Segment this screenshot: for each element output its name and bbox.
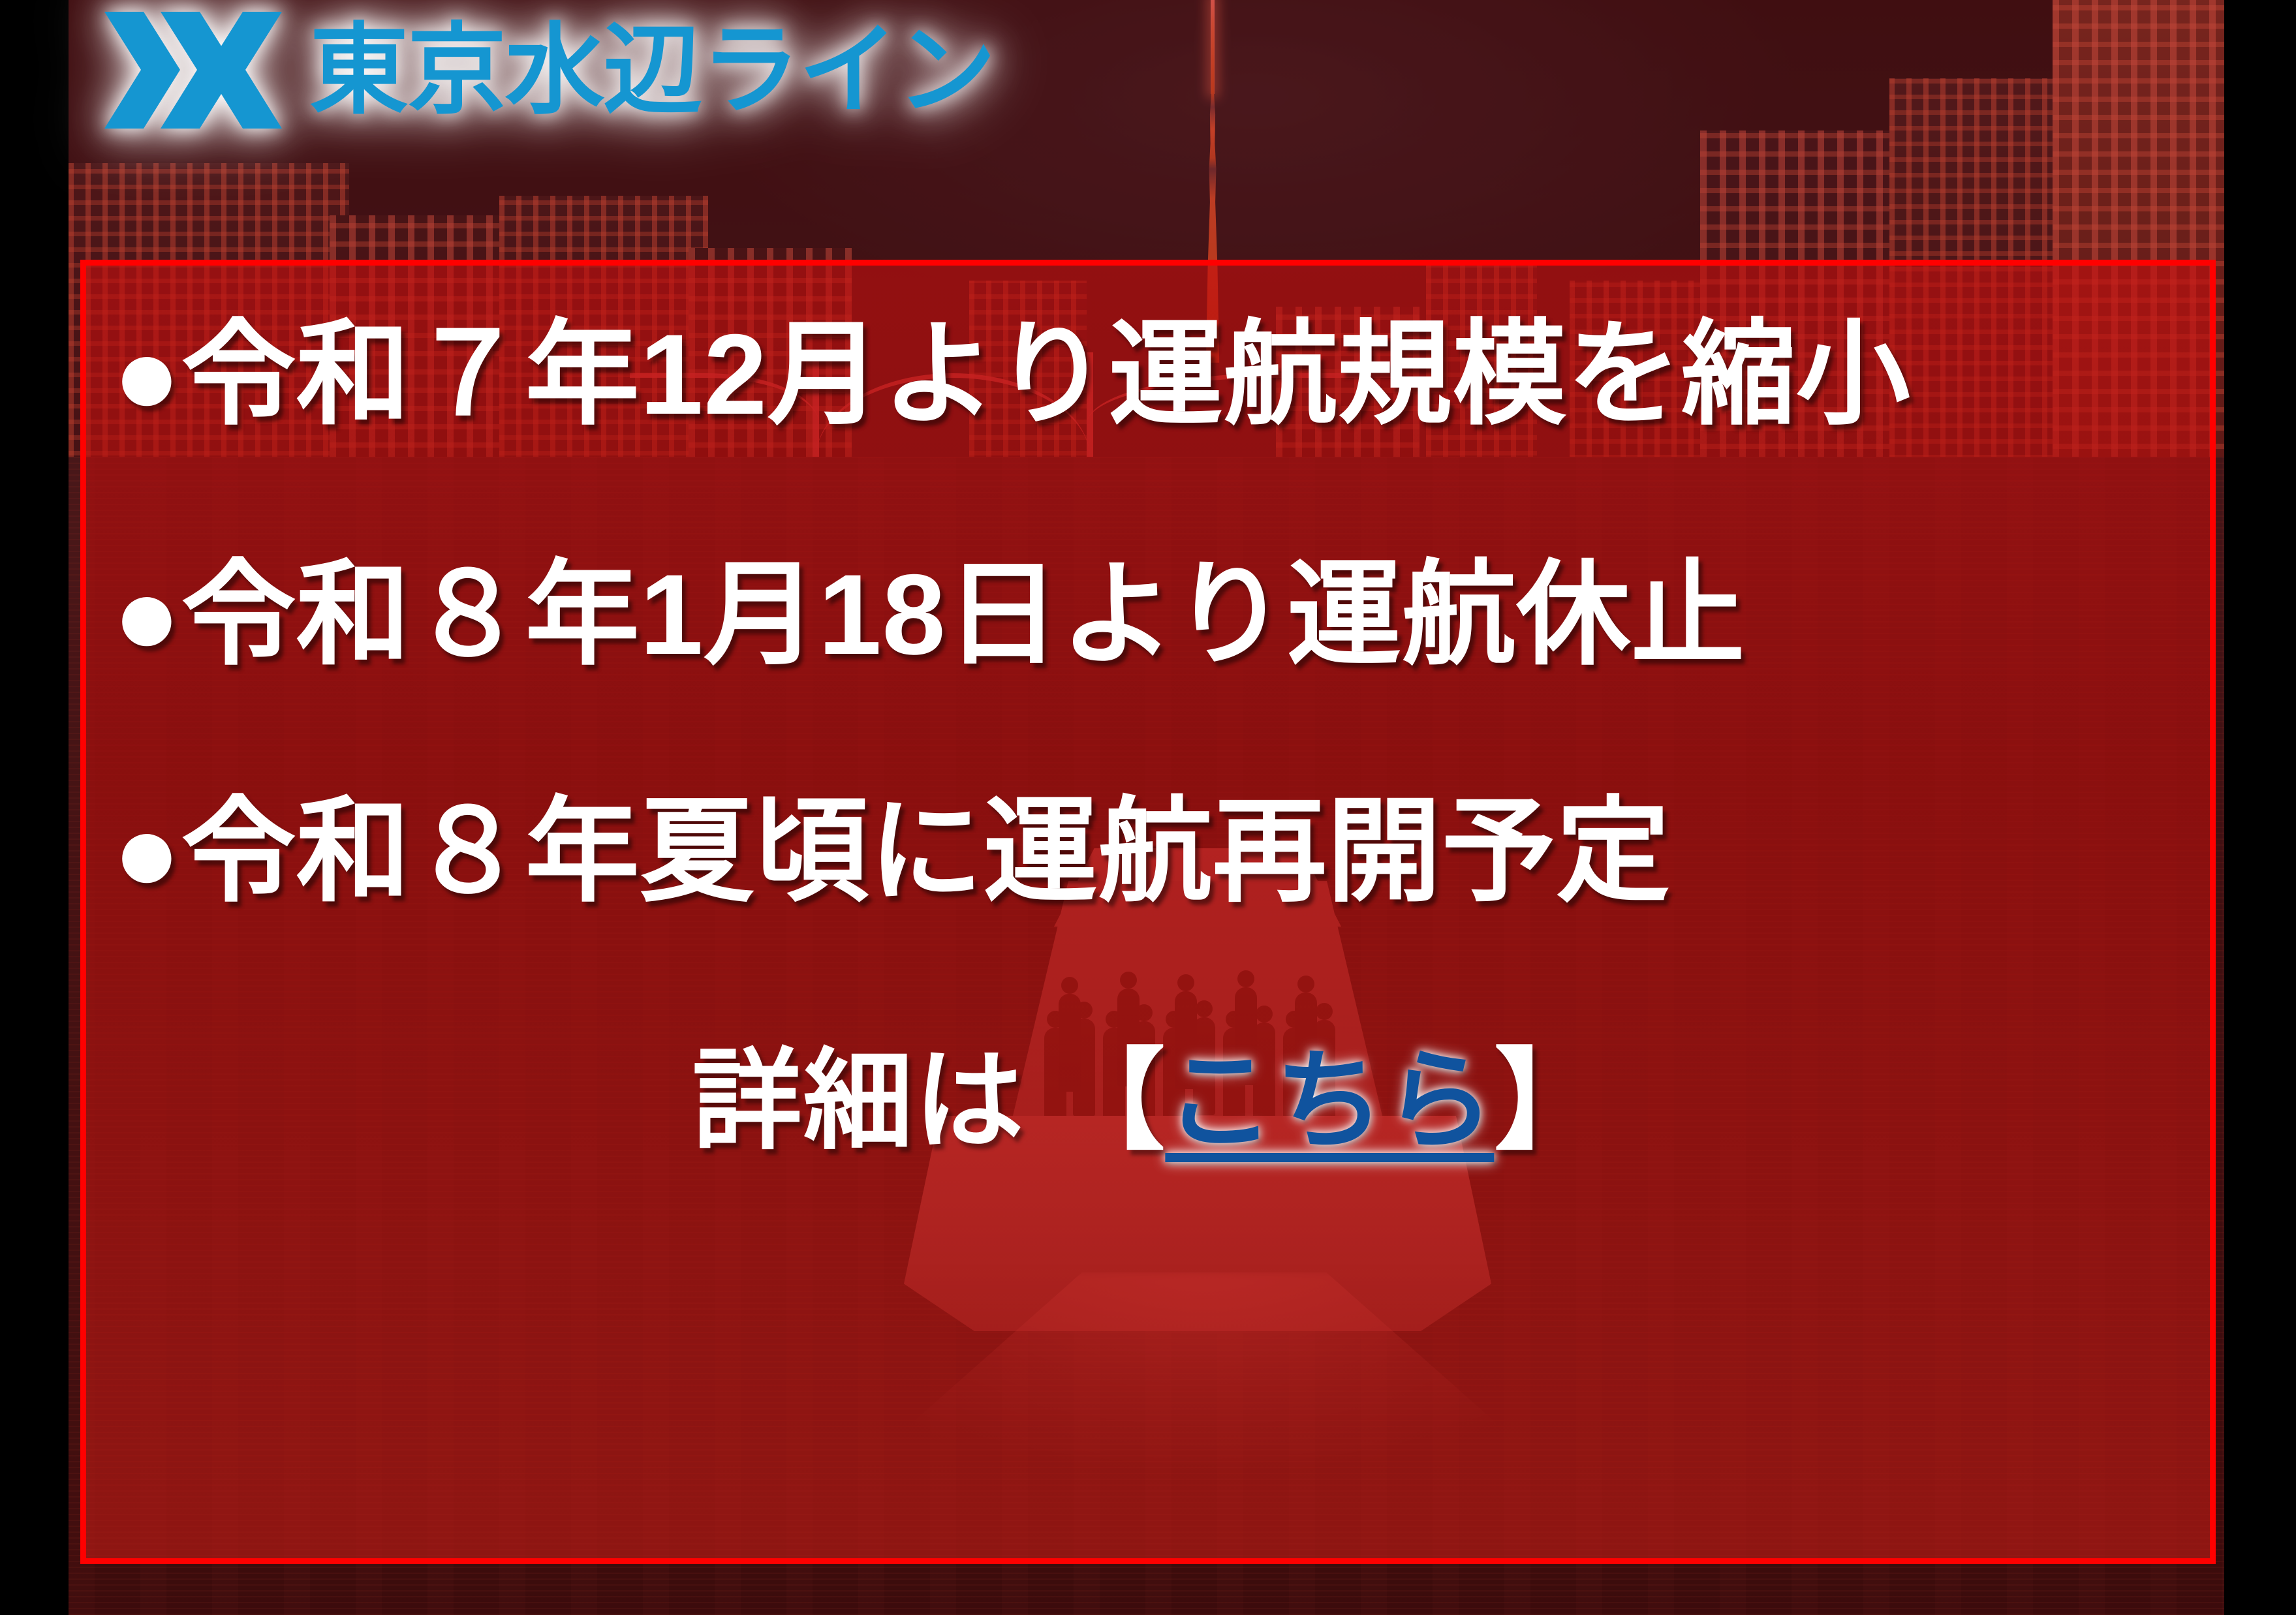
tokyo-mizube-line-logo[interactable]: 東京水辺ライン [98, 7, 995, 134]
details-lead-text: 詳細は [692, 1039, 1025, 1162]
details-link[interactable]: こちら [1165, 1039, 1494, 1162]
notice-line-1: ●令和７年12月より運航規模を縮小 [112, 318, 2184, 432]
notice-line-3: ●令和８年夏頃に運航再開予定 [112, 795, 2184, 909]
logo-wordmark: 東京水辺ライン [309, 21, 995, 120]
left-letterbox-bar [0, 0, 69, 1615]
right-letterbox-bar [2224, 0, 2296, 1615]
details-link-row: 詳細は 【こちら】 [112, 1046, 2184, 1156]
double-chevron-icon [98, 7, 287, 134]
notice-panel: ●令和７年12月より運航規模を縮小 ●令和８年1月18日より運航休止 ●令和８年… [80, 260, 2216, 1564]
bracket-close: 】 [1494, 1039, 1604, 1162]
announcement-banner: 東京水辺ライン ●令和７年12月より運航規模を縮小 ●令和８年1月18日より運航… [0, 0, 2296, 1615]
notice-line-2: ●令和８年1月18日より運航休止 [112, 558, 2184, 672]
bracket-open: 【 [1055, 1039, 1165, 1162]
